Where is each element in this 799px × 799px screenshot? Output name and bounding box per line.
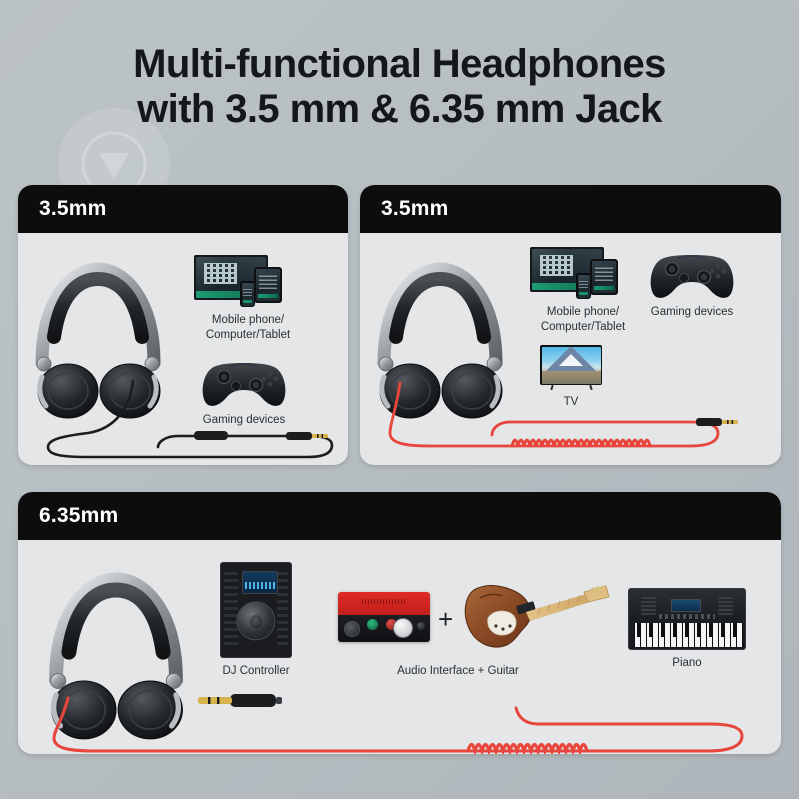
guitar-icon xyxy=(460,576,610,658)
panel-1-badge: 3.5mm xyxy=(39,197,107,221)
television-icon xyxy=(540,345,602,385)
panel-1-gamepad-label: Gaming devices xyxy=(184,413,304,428)
inline-remote-icon xyxy=(194,431,228,440)
panel-3-dj-label: DJ Controller xyxy=(206,664,306,679)
headphones-icon xyxy=(36,560,196,742)
panel-2-gamepad-label: Gaming devices xyxy=(632,305,752,320)
title-line-1: Multi-functional Headphones xyxy=(133,42,666,86)
gamepad-icon xyxy=(648,249,736,301)
panel-35mm-primary: 3.5mm xyxy=(18,185,348,465)
piano-keyboard-icon xyxy=(628,588,746,650)
panel-2-body: Mobile phone/ Computer/Tablet Gaming dev… xyxy=(360,233,781,465)
phone-icon xyxy=(240,281,255,307)
tablet-icon xyxy=(590,259,618,295)
panel-1-screens-label: Mobile phone/ Computer/Tablet xyxy=(168,313,328,342)
tablet-icon xyxy=(254,267,282,303)
panel-3-body: DJ Controller + xyxy=(18,540,781,754)
panel-2-tv-label: TV xyxy=(531,395,611,410)
monitor-tablet-phone-icon xyxy=(194,255,300,303)
cable-coil-section xyxy=(512,440,650,446)
panel-3-piano-label: Piano xyxy=(647,656,727,671)
panel-2-header: 3.5mm xyxy=(360,185,781,233)
headphones-icon xyxy=(24,251,172,421)
gamepad-icon xyxy=(200,357,288,409)
plus-separator: + xyxy=(438,604,453,635)
audio-interface-icon xyxy=(338,592,430,642)
phone-icon xyxy=(576,273,591,299)
panel-3-header: 6.35mm xyxy=(18,492,781,540)
jack-35mm-icon xyxy=(696,418,738,426)
jack-635mm-icon xyxy=(198,694,282,707)
panel-2-badge: 3.5mm xyxy=(381,197,449,221)
page-title: Multi-functional Headphones with 3.5 mm … xyxy=(0,42,799,132)
panel-635mm: 6.35mm DJ Controller + xyxy=(18,492,781,754)
panel-3-interface-guitar-label: Audio Interface + Guitar xyxy=(358,664,558,679)
title-line-2: with 3.5 mm & 6.35 mm Jack xyxy=(0,87,799,132)
monitor-tablet-phone-icon xyxy=(530,247,636,295)
panel-35mm-secondary: 3.5mm Mobile phone/ Computer/Tablet xyxy=(360,185,781,465)
dj-controller-icon xyxy=(220,562,292,658)
headphones-icon xyxy=(366,251,514,421)
panel-1-header: 3.5mm xyxy=(18,185,348,233)
panel-1-body: Mobile phone/ Computer/Tablet Gaming dev… xyxy=(18,233,348,465)
cable-coil-section xyxy=(468,745,587,752)
jack-35mm-icon xyxy=(286,432,328,440)
panel-3-badge: 6.35mm xyxy=(39,504,118,528)
